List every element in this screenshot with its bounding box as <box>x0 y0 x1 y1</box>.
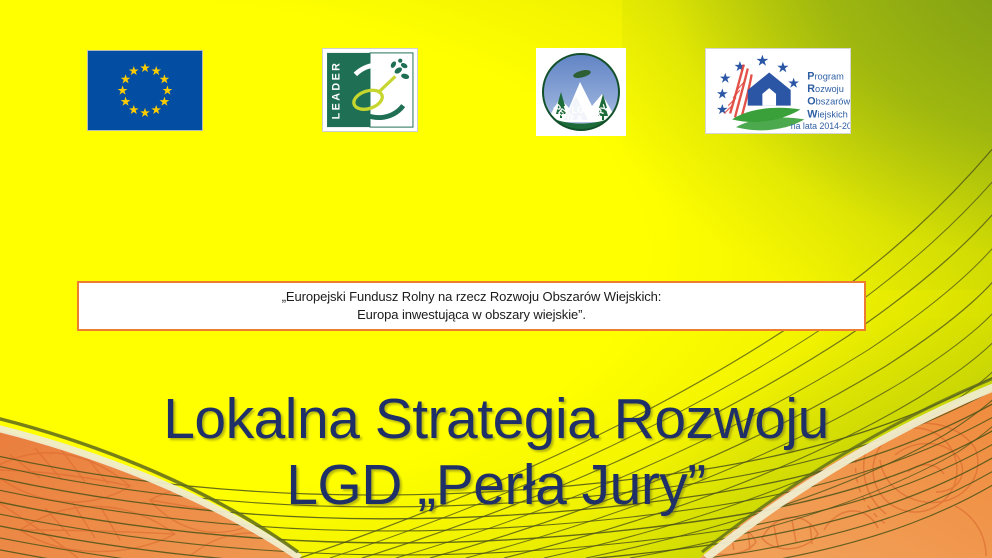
logo-row: LEADER <box>0 0 992 140</box>
slide-title: Lokalna Strategia Rozwoju LGD „Perła Jur… <box>0 386 992 518</box>
prow-years: na lata 2014-2020 <box>791 121 850 131</box>
caption-line-1: „Europejski Fundusz Rolny na rzecz Rozwo… <box>282 289 662 305</box>
leader-logo-mark: LEADER <box>323 49 417 131</box>
title-line-1: Lokalna Strategia Rozwoju <box>0 386 992 452</box>
leader-logo-text: LEADER <box>331 61 343 120</box>
presentation-slide: LEADER <box>0 0 992 558</box>
lgd-perla-jury-logo: LGD PERŁA JURY <box>536 48 626 136</box>
prow-line-1: Program <box>807 70 844 82</box>
title-line-2: LGD „Perła Jury” <box>0 452 992 518</box>
caption-line-2: Europa inwestująca w obszary wiejskie”. <box>357 307 586 323</box>
prow-line-2: Rozwoju <box>807 83 844 95</box>
eu-funding-caption-box: „Europejski Fundusz Rolny na rzecz Rozwo… <box>77 281 866 331</box>
prow-line-3: Obszarów <box>807 96 850 108</box>
prow-logo: Program Rozwoju Obszarów Wiejskich na la… <box>705 48 851 134</box>
eu-flag-logo <box>87 50 203 131</box>
leader-logo: LEADER <box>322 48 418 132</box>
eu-flag-stars <box>88 51 202 130</box>
prow-logo-mark: Program Rozwoju Obszarów Wiejskich na la… <box>706 49 850 133</box>
prow-line-4: Wiejskich <box>807 108 848 120</box>
lgd-perla-jury-logo-mark: LGD PERŁA JURY <box>536 48 626 136</box>
